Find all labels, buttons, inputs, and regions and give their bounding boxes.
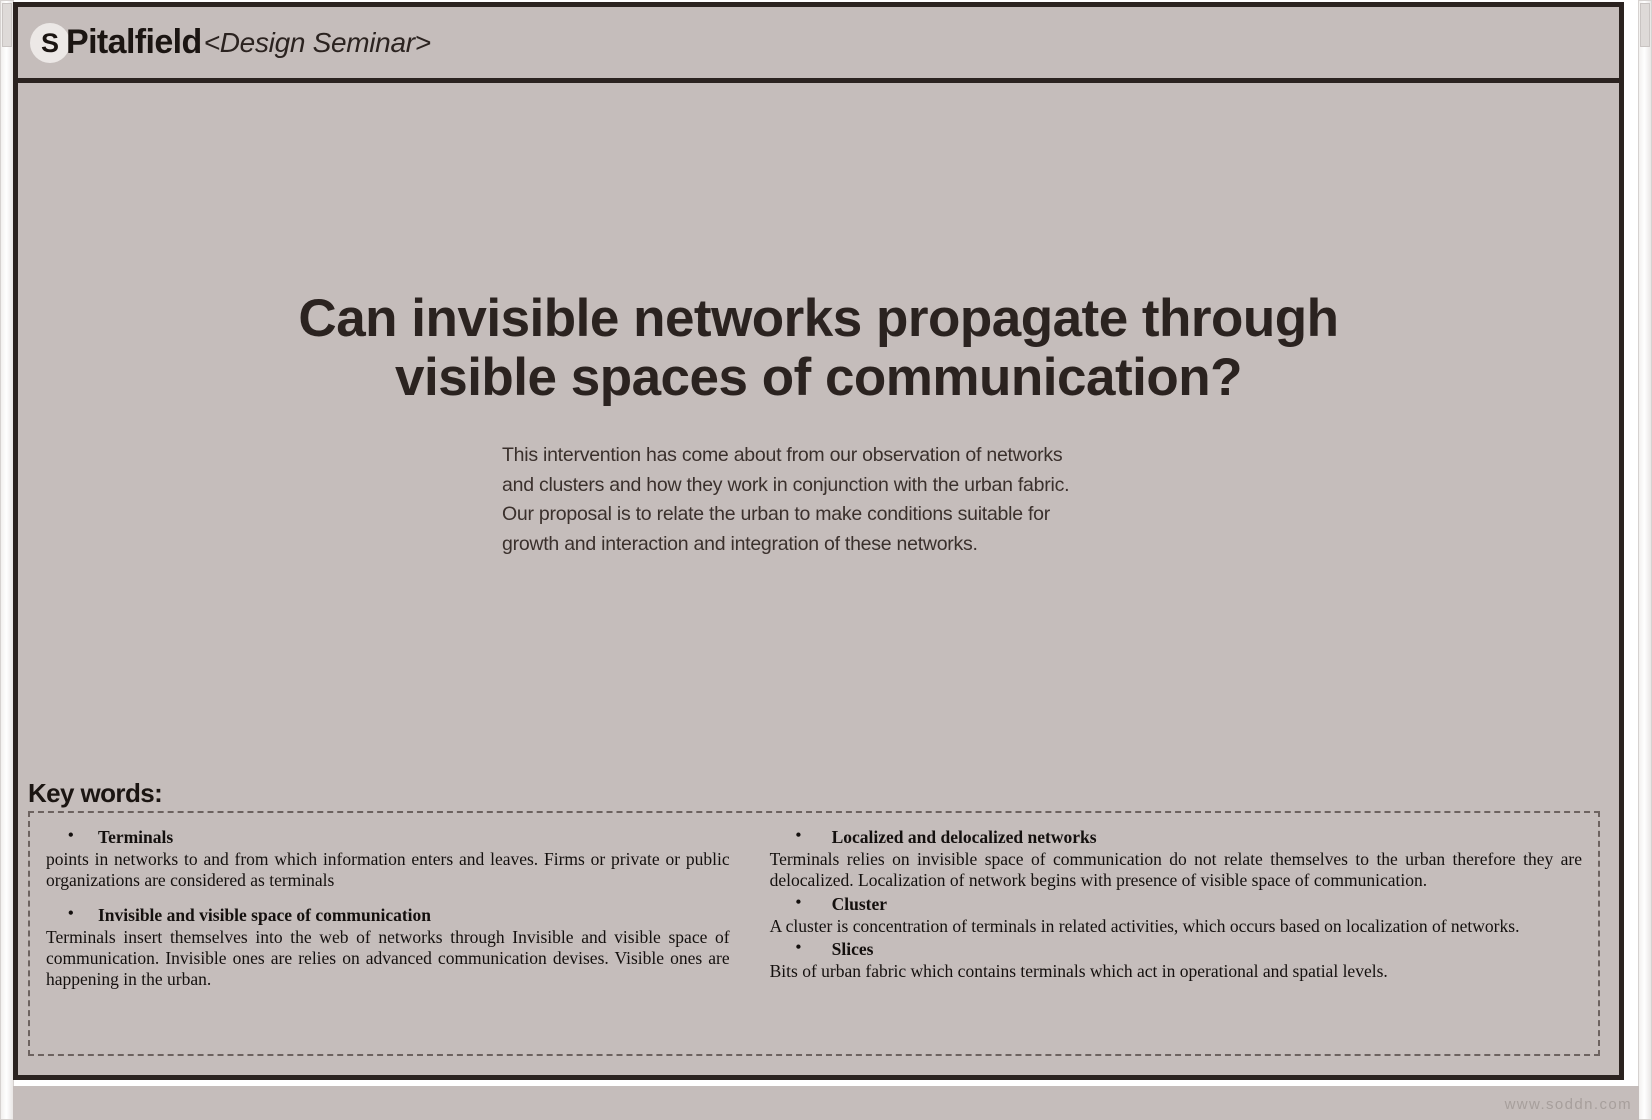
page-root: S Pitalfield <Design Seminar> Can invisi…	[0, 0, 1652, 1120]
logo-badge-icon: S	[30, 23, 70, 63]
keyword-entry: Slices Bits of urban fabric which contai…	[770, 939, 1582, 982]
keywords-box: Terminals points in networks to and from…	[28, 811, 1600, 1056]
standfirst-line-4: growth and interaction and integration o…	[502, 530, 1202, 560]
board-main: Can invisible networks propagate through…	[18, 83, 1619, 1072]
keyword-term: Invisible and visible space of communica…	[46, 905, 730, 926]
keywords-heading: Key words:	[28, 778, 162, 809]
keyword-entry: Localized and delocalized networks Termi…	[770, 827, 1582, 892]
headline-line-1: Can invisible networks propagate through	[138, 289, 1499, 348]
keyword-entry: Invisible and visible space of communica…	[46, 905, 730, 991]
bottom-band	[13, 1086, 1639, 1120]
keyword-term: Localized and delocalized networks	[770, 827, 1582, 848]
left-scrollbar-thumb[interactable]	[2, 3, 12, 47]
keyword-definition: Terminals insert themselves into the web…	[46, 927, 730, 991]
standfirst-line-2: and clusters and how they work in conjun…	[502, 471, 1202, 501]
keyword-definition: Bits of urban fabric which contains term…	[770, 961, 1582, 982]
keyword-definition: Terminals relies on invisible space of c…	[770, 849, 1582, 892]
keyword-definition: points in networks to and from which inf…	[46, 849, 730, 892]
keyword-definition: A cluster is concentration of terminals …	[770, 916, 1582, 937]
brand-name: Pitalfield	[66, 23, 202, 62]
keywords-right-column: Localized and delocalized networks Termi…	[744, 827, 1582, 1046]
right-scrollbar[interactable]	[1638, 0, 1652, 1120]
board-header: S Pitalfield <Design Seminar>	[18, 7, 1619, 83]
keyword-term: Cluster	[770, 894, 1582, 915]
keyword-entry: Cluster A cluster is concentration of te…	[770, 894, 1582, 937]
site-watermark: www.soddn.com	[1505, 1096, 1632, 1113]
left-scrollbar[interactable]	[0, 0, 14, 1120]
presentation-board: S Pitalfield <Design Seminar> Can invisi…	[13, 2, 1624, 1080]
standfirst-paragraph: This intervention has come about from ou…	[502, 441, 1202, 560]
keyword-term: Terminals	[46, 827, 730, 848]
brand-subtitle: <Design Seminar>	[204, 27, 431, 59]
headline-line-2: visible spaces of communication?	[138, 348, 1499, 407]
headline: Can invisible networks propagate through…	[18, 289, 1619, 408]
standfirst-line-1: This intervention has come about from ou…	[502, 441, 1202, 471]
keyword-term: Slices	[770, 939, 1582, 960]
standfirst-line-3: Our proposal is to relate the urban to m…	[502, 500, 1202, 530]
keywords-left-column: Terminals points in networks to and from…	[46, 827, 744, 1046]
right-scrollbar-thumb[interactable]	[1640, 3, 1650, 47]
keyword-entry: Terminals points in networks to and from…	[46, 827, 730, 892]
